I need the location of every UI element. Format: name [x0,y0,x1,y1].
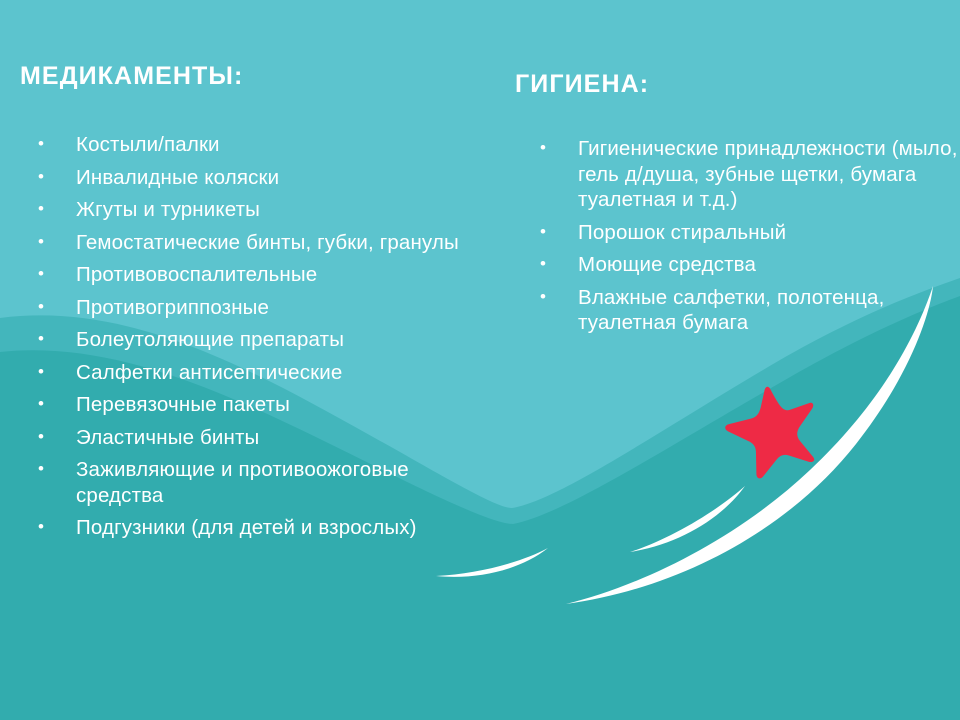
bullet-dot-icon [38,514,76,541]
list-item: Моющие средства [540,251,960,284]
bullet-dot-icon [540,284,578,311]
list-item-label: Инвалидные коляски [76,166,279,189]
bullet-dot-icon [38,294,76,321]
bullet-dot-icon [540,219,578,246]
bullet-dot-icon [38,424,76,451]
bullet-dot-icon [38,359,76,386]
list-item-label: Костыли/палки [76,133,220,156]
bullet-dot-icon [38,261,76,288]
list-item: Жгуты и турникеты [38,196,500,229]
heading-medicines: МЕДИКАМЕНТЫ: [20,62,243,91]
list-item-label: Гемостатические бинты, губки, гранулы [76,231,459,254]
list-hygiene: Гигиенические принадлежности (мыло, гель… [513,135,960,342]
list-item: Подгузники (для детей и взрослых) [38,514,500,547]
list-item: Салфетки антисептические [38,359,500,392]
list-item: Гигиенические принадлежности (мыло, гель… [540,135,960,219]
bullet-dot-icon [540,251,578,278]
bullet-dot-icon [38,196,76,223]
list-item-label: Моющие средства [578,253,756,276]
list-item: Инвалидные коляски [38,164,500,197]
bullet-dot-icon [540,135,578,162]
list-item: Перевязочные пакеты [38,391,500,424]
list-item-label: Противогриппозные [76,296,269,319]
bullet-dot-icon [38,229,76,256]
list-item: Противогриппозные [38,294,500,327]
bullet-dot-icon [38,164,76,191]
list-item: Влажные салфетки, полотенца, туалетная б… [540,284,960,342]
list-item: Костыли/палки [38,131,500,164]
bullet-dot-icon [38,456,76,483]
list-item-label: Подгузники (для детей и взрослых) [76,516,417,539]
list-item-label: Жгуты и турникеты [76,198,260,221]
list-item: Гемостатические бинты, губки, гранулы [38,229,500,262]
list-item: Болеутоляющие препараты [38,326,500,359]
list-item-label: Эластичные бинты [76,426,259,449]
list-item: Порошок стиральный [540,219,960,252]
bullet-dot-icon [38,391,76,418]
list-item-label: Перевязочные пакеты [76,393,290,416]
list-item: Заживляющие и противоожоговые средства [38,456,500,514]
list-item-label: Болеутоляющие препараты [76,328,344,351]
list-item-label: Гигиенические принадлежности (мыло, гель… [578,137,958,211]
bullet-dot-icon [38,326,76,353]
list-item: Противовоспалительные [38,261,500,294]
bullet-dot-icon [38,131,76,158]
list-item-label: Влажные салфетки, полотенца, туалетная б… [578,286,884,335]
heading-hygiene: ГИГИЕНА: [515,70,649,99]
list-item: Эластичные бинты [38,424,500,457]
list-item-label: Противовоспалительные [76,263,317,286]
list-item-label: Заживляющие и противоожоговые средства [76,458,409,507]
slide-canvas: МЕДИКАМЕНТЫ: Костыли/палки Инвалидные ко… [0,0,960,720]
list-medicines: Костыли/палки Инвалидные коляски Жгуты и… [0,131,500,547]
list-item-label: Салфетки антисептические [76,361,342,384]
list-item-label: Порошок стиральный [578,221,786,244]
